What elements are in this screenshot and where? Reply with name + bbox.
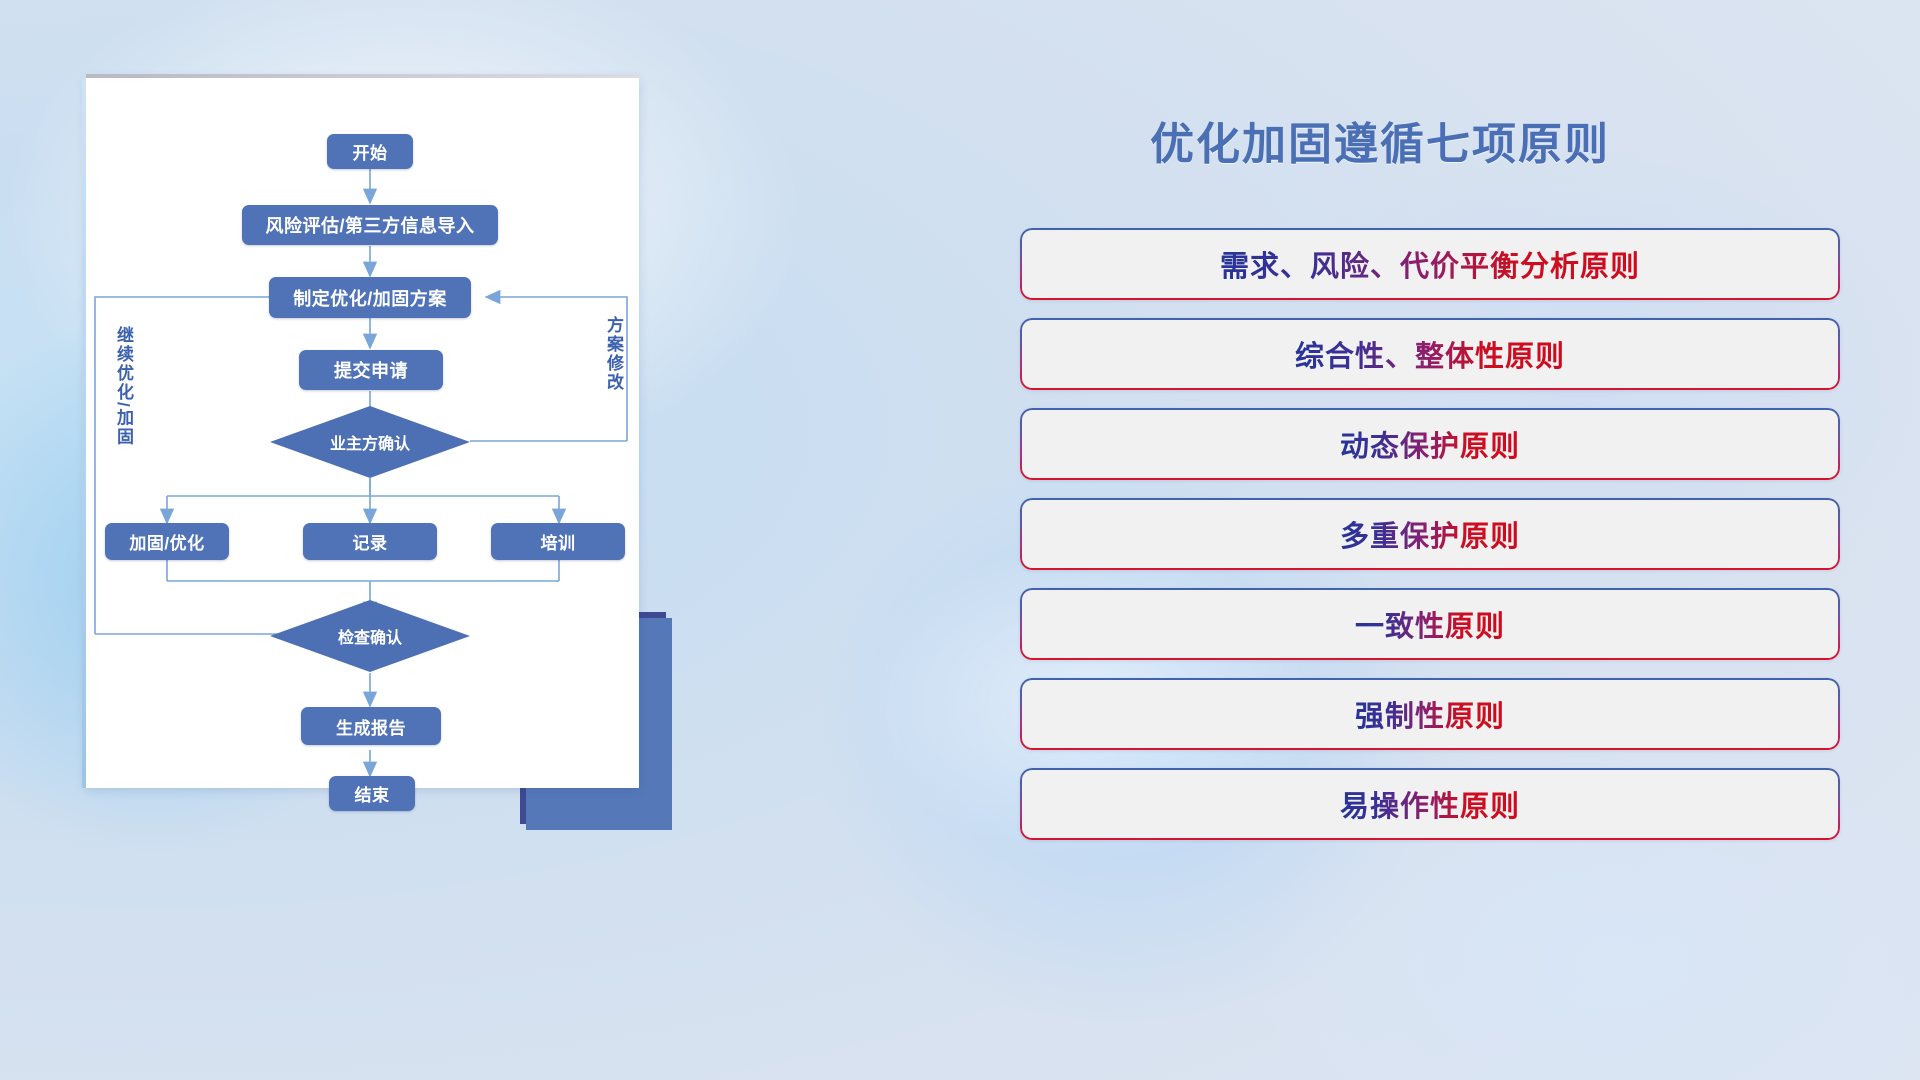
flow-node-train-label: 培训: [541, 529, 576, 554]
principle-label: 易操作性原则: [1340, 783, 1520, 825]
flow-node-record[interactable]: 记录: [303, 523, 437, 560]
flow-edge-label-left: 继续优化/加固: [111, 326, 136, 447]
flow-node-assess[interactable]: 风险评估/第三方信息导入: [242, 205, 498, 245]
flow-node-train[interactable]: 培训: [491, 523, 625, 560]
principle-item-1[interactable]: 需求、风险、代价平衡分析原则: [1020, 228, 1840, 300]
flow-node-plan[interactable]: 制定优化/加固方案: [269, 277, 471, 318]
flow-node-start[interactable]: 开始: [327, 134, 413, 169]
flow-node-reinforce-label: 加固/优化: [129, 529, 204, 554]
principle-label: 强制性原则: [1355, 693, 1505, 735]
flow-node-report-label: 生成报告: [336, 714, 406, 739]
flow-node-record-label: 记录: [353, 529, 388, 554]
flow-node-start-label: 开始: [353, 139, 388, 164]
flow-node-end-label: 结束: [355, 781, 390, 806]
principles-panel: 优化加固遵循七项原则 需求、风险、代价平衡分析原则 综合性、整体性原则 动态保护…: [1020, 78, 1840, 1018]
flow-node-assess-label: 风险评估/第三方信息导入: [266, 212, 475, 238]
page-title: 优化加固遵循七项原则: [1150, 108, 1610, 172]
principle-label: 综合性、整体性原则: [1295, 333, 1565, 375]
principle-label: 一致性原则: [1355, 603, 1505, 645]
principle-item-7[interactable]: 易操作性原则: [1020, 768, 1840, 840]
flow-node-check-confirm-label: 检查确认: [338, 624, 402, 648]
principle-item-5[interactable]: 一致性原则: [1020, 588, 1840, 660]
principles-list: 需求、风险、代价平衡分析原则 综合性、整体性原则 动态保护原则 多重保护原则 一…: [1020, 228, 1840, 858]
flow-node-check-confirm[interactable]: 检查确认: [270, 600, 470, 672]
flow-node-owner-confirm[interactable]: 业主方确认: [270, 406, 470, 478]
principle-item-6[interactable]: 强制性原则: [1020, 678, 1840, 750]
principle-item-4[interactable]: 多重保护原则: [1020, 498, 1840, 570]
flow-node-owner-confirm-label: 业主方确认: [330, 430, 410, 454]
flow-node-submit[interactable]: 提交申请: [299, 350, 443, 390]
principle-label: 需求、风险、代价平衡分析原则: [1220, 243, 1640, 285]
principle-item-3[interactable]: 动态保护原则: [1020, 408, 1840, 480]
principle-label: 多重保护原则: [1340, 513, 1520, 555]
flow-node-reinforce[interactable]: 加固/优化: [105, 523, 229, 560]
flow-edge-label-right: 方案修改: [601, 316, 626, 392]
flow-node-plan-label: 制定优化/加固方案: [293, 285, 447, 311]
flow-node-end[interactable]: 结束: [329, 776, 415, 811]
principle-label: 动态保护原则: [1340, 423, 1520, 465]
flow-node-report[interactable]: 生成报告: [301, 707, 441, 745]
principle-item-2[interactable]: 综合性、整体性原则: [1020, 318, 1840, 390]
flowchart-panel: 开始 风险评估/第三方信息导入 制定优化/加固方案 提交申请 业主方确认 加固/…: [86, 78, 651, 800]
flow-node-submit-label: 提交申请: [334, 357, 408, 383]
